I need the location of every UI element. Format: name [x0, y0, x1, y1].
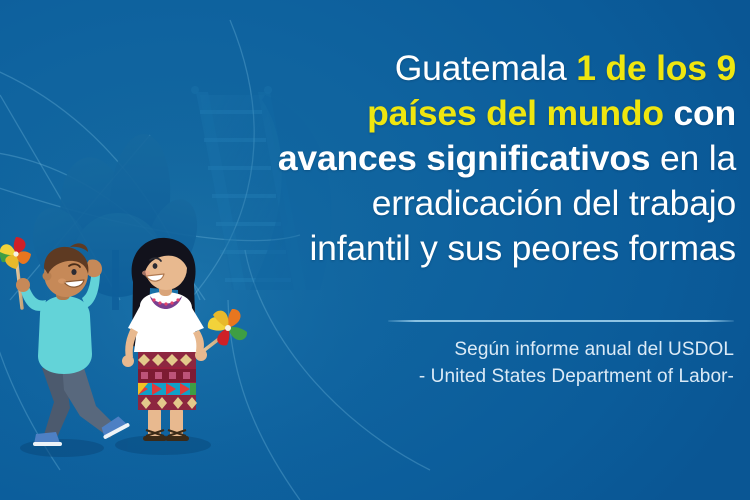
- headline-plain-enla: en la: [660, 138, 736, 178]
- source-line-2: - United States Department of Labor-: [174, 363, 734, 390]
- girl-cheek: [142, 270, 150, 275]
- boy-hand-left: [16, 278, 30, 292]
- boy-shirt: [38, 296, 92, 374]
- section-divider: [388, 320, 734, 322]
- headline-line-3: avances significativos en la: [176, 136, 736, 181]
- headline-line-5: infantil y sus peores formas: [176, 226, 736, 271]
- headline-highlight-1de9: 1 de los 9: [576, 48, 736, 88]
- headline: Guatemala 1 de los 9 países del mundo co…: [176, 46, 736, 271]
- headline-highlight-paises: países del mundo: [367, 93, 673, 133]
- girl-hand-left: [122, 355, 134, 367]
- girl-eye: [153, 263, 158, 269]
- headline-bold-con: con: [673, 93, 736, 133]
- source-line-1: Según informe anual del USDOL: [174, 336, 734, 363]
- boy-pinwheel-icon: [0, 237, 31, 269]
- boy-cheek: [58, 278, 66, 283]
- headline-line-2: países del mundo con: [176, 91, 736, 136]
- headline-plain-guatemala: Guatemala: [395, 48, 577, 88]
- source-note: Según informe anual del USDOL - United S…: [174, 336, 734, 390]
- headline-line-4: erradicación del trabajo: [176, 181, 736, 226]
- boy-eye: [71, 269, 76, 275]
- boy-figure: [0, 237, 130, 446]
- poster-canvas: Guatemala 1 de los 9 países del mundo co…: [0, 0, 750, 500]
- boy-ear: [43, 272, 52, 281]
- headline-bold-avances: avances significativos: [278, 138, 660, 178]
- headline-line-1: Guatemala 1 de los 9: [176, 46, 736, 91]
